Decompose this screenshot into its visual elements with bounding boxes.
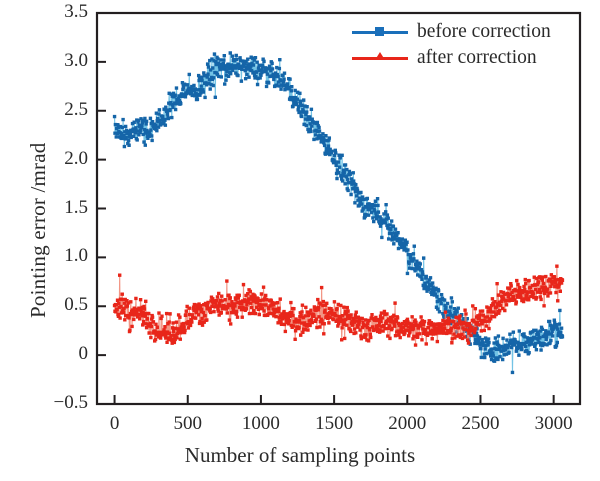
x-tick-label: 2500: [440, 413, 520, 435]
x-tick-label: 2000: [367, 413, 447, 435]
x-tick-label: 500: [148, 413, 228, 435]
pointing-error-figure: Pointing error /mrad Number of sampling …: [0, 0, 600, 481]
chart-legend: before correction after correction: [352, 20, 551, 70]
legend-label-after-correction: after correction: [417, 48, 537, 68]
legend-key-square-icon: [352, 23, 408, 41]
x-tick-label: 0: [75, 413, 155, 435]
y-tick-label: 2.5: [10, 99, 88, 121]
y-tick-label: −0.5: [10, 392, 88, 414]
x-tick-label: 1000: [221, 413, 301, 435]
legend-item-after-correction: after correction: [352, 46, 551, 70]
series-markers: [113, 265, 564, 347]
y-tick-label: 3.0: [10, 50, 88, 72]
y-tick-label: 1.0: [10, 245, 88, 267]
legend-item-before-correction: before correction: [352, 20, 551, 44]
x-tick-label: 1500: [294, 413, 374, 435]
y-tick-label: 3.5: [10, 1, 88, 23]
series-after-correction: [113, 265, 564, 347]
legend-label-before-correction: before correction: [417, 22, 551, 42]
x-tick-label: 3000: [514, 413, 594, 435]
y-tick-label: 1.5: [10, 197, 88, 219]
y-tick-label: 0: [10, 343, 88, 365]
y-tick-label: 0.5: [10, 294, 88, 316]
y-tick-label: 2.0: [10, 148, 88, 170]
chart-canvas: [0, 0, 600, 481]
legend-key-triangle-icon: [352, 49, 408, 67]
x-axis-title: Number of sampling points: [0, 443, 600, 468]
